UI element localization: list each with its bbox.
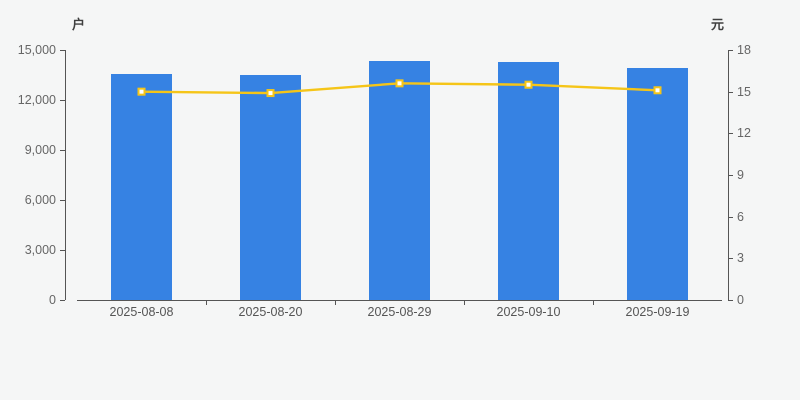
left-axis-tick-label: 12,000 bbox=[18, 94, 56, 107]
x-axis-line bbox=[77, 300, 722, 301]
left-axis-tick-label: 9,000 bbox=[25, 144, 56, 157]
x-axis-tick-label: 2025-08-29 bbox=[368, 305, 432, 319]
x-axis-tickmark bbox=[206, 300, 207, 305]
bar[interactable] bbox=[498, 62, 559, 300]
left-axis-tickmark bbox=[60, 50, 65, 51]
x-axis-tickmark bbox=[335, 300, 336, 305]
left-axis-tickmark bbox=[60, 100, 65, 101]
right-axis-tickmark bbox=[728, 50, 733, 51]
right-axis-tickmark bbox=[728, 92, 733, 93]
left-axis-tick-label: 6,000 bbox=[25, 194, 56, 207]
left-axis-tickmark bbox=[60, 300, 65, 301]
right-axis-tick-label: 6 bbox=[737, 210, 744, 223]
right-axis-tick-label: 9 bbox=[737, 169, 744, 182]
left-axis-tickmark bbox=[60, 200, 65, 201]
chart-container: 户 元 03,0006,0009,00012,00015,000 0369121… bbox=[0, 0, 800, 400]
left-axis: 03,0006,0009,00012,00015,000 bbox=[0, 0, 66, 400]
right-axis-tick-label: 0 bbox=[737, 294, 744, 307]
right-axis-tickmark bbox=[728, 217, 733, 218]
left-axis-tick-label: 15,000 bbox=[18, 44, 56, 57]
right-axis-tickmark bbox=[728, 300, 733, 301]
bar[interactable] bbox=[240, 75, 301, 300]
right-axis-tickmark bbox=[728, 133, 733, 134]
left-axis-tick-label: 3,000 bbox=[25, 244, 56, 257]
right-axis-tick-label: 18 bbox=[737, 44, 751, 57]
left-axis-line bbox=[65, 50, 66, 300]
right-axis-unit-label: 元 bbox=[711, 14, 724, 33]
left-axis-unit-label: 户 bbox=[72, 14, 85, 33]
right-axis-tick-label: 3 bbox=[737, 252, 744, 265]
x-axis-tick-label: 2025-09-19 bbox=[626, 305, 690, 319]
left-axis-tick-label: 0 bbox=[49, 294, 56, 307]
bar[interactable] bbox=[369, 61, 430, 300]
x-axis-tick-label: 2025-08-20 bbox=[239, 305, 303, 319]
x-axis-tick-label: 2025-09-10 bbox=[497, 305, 561, 319]
bar[interactable] bbox=[111, 74, 172, 300]
right-axis-tick-label: 12 bbox=[737, 127, 751, 140]
right-axis-tickmark bbox=[728, 258, 733, 259]
x-axis-tickmark bbox=[593, 300, 594, 305]
left-axis-tickmark bbox=[60, 150, 65, 151]
x-axis-tick-label: 2025-08-08 bbox=[110, 305, 174, 319]
right-axis: 0369121518 bbox=[728, 0, 798, 400]
x-axis-tickmark bbox=[464, 300, 465, 305]
right-axis-tick-label: 15 bbox=[737, 85, 751, 98]
right-axis-tickmark bbox=[728, 175, 733, 176]
bar[interactable] bbox=[627, 68, 688, 300]
left-axis-tickmark bbox=[60, 250, 65, 251]
